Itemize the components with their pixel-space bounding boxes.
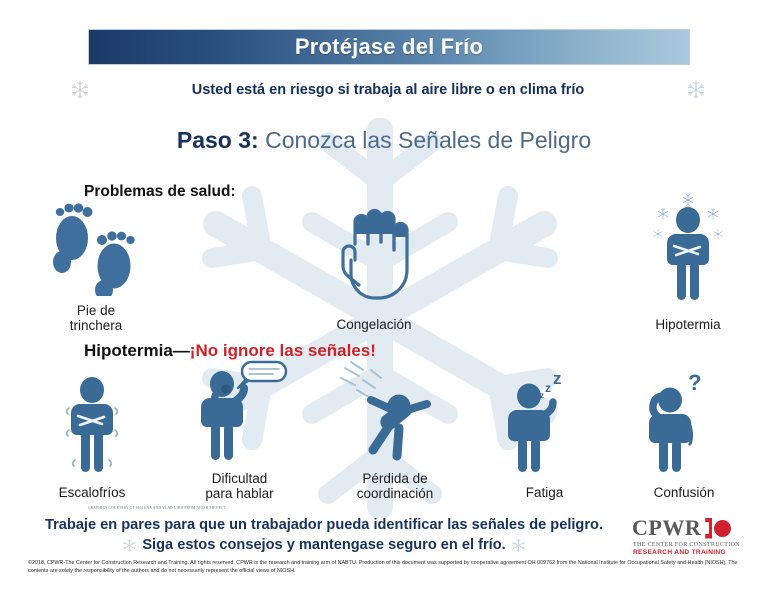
cpwr-logo: CPWR THE CENTER FOR CONSTRUCTION RESEARC… bbox=[632, 517, 760, 561]
health-problems-row: Pie de trinchera bbox=[40, 198, 740, 333]
caption-line-1: Dificultad bbox=[205, 472, 273, 486]
hypothermia-signs-row: Escalofríos bbox=[42, 366, 732, 501]
person-confused-question-icon: ? bbox=[636, 366, 732, 483]
snowflake-icon bbox=[511, 538, 526, 553]
person-sleepy-zzz-icon: z z z bbox=[497, 366, 593, 483]
step-label: Paso 3: bbox=[177, 127, 259, 153]
logo-top-row: CPWR bbox=[632, 517, 731, 539]
footer-line-2: Siga estos consejos y mantengase seguro … bbox=[142, 536, 505, 556]
snowflake-icon bbox=[686, 80, 706, 100]
sign-item-shivering: Escalofríos bbox=[42, 372, 142, 501]
logo-dot-shape bbox=[714, 520, 731, 537]
health-item-trench-foot: Pie de trinchera bbox=[40, 196, 152, 333]
footer: Trabaje en pares para que un trabajador … bbox=[0, 516, 768, 564]
logo-subtitle-1: THE CENTER FOR CONSTRUCTION bbox=[633, 542, 740, 548]
step-heading: Paso 3: Conozca las Señales de Peligro bbox=[0, 128, 768, 153]
poster-root: Protéjase del Frío Usted es bbox=[0, 0, 768, 593]
health-item-caption: Pie de trinchera bbox=[70, 304, 123, 333]
person-cold-snowflakes-icon bbox=[636, 194, 740, 315]
caption-line-1: Pérdida de bbox=[357, 472, 434, 486]
sign-item-caption: Dificultad para hablar bbox=[205, 472, 273, 501]
subtitle-row: Usted está en riesgo si trabaja al aire … bbox=[70, 76, 706, 104]
footer-line-2-row: Siga estos consejos y mantengase seguro … bbox=[18, 536, 630, 556]
hand-frostbite-icon bbox=[322, 208, 426, 315]
snowflake-icon bbox=[70, 80, 90, 100]
person-falling-icon bbox=[337, 358, 453, 469]
title-banner: Protéjase del Frío bbox=[88, 29, 690, 65]
page-title: Protéjase del Frío bbox=[295, 36, 483, 58]
caption-line-2: trinchera bbox=[70, 319, 123, 333]
health-item-caption: Hipotermia bbox=[655, 318, 720, 333]
person-speech-bubble-icon bbox=[186, 356, 294, 469]
bracket-dot-icon bbox=[705, 518, 731, 539]
sign-item-caption: Escalofríos bbox=[59, 486, 126, 501]
snowflake-icon bbox=[122, 538, 137, 553]
svg-text:z: z bbox=[553, 369, 562, 388]
caption-line-2: coordinación bbox=[357, 487, 434, 501]
svg-text:?: ? bbox=[688, 370, 701, 395]
sign-item-caption: Pérdida de coordinación bbox=[357, 472, 434, 501]
footer-line-1: Trabaje en pares para que un trabajador … bbox=[18, 516, 630, 536]
caption-line-1: Pie de bbox=[70, 304, 123, 318]
hypothermia-label-text: Hipotermia— bbox=[84, 341, 190, 360]
disclaimer-text: ©2018, CPWR-The Center for Construction … bbox=[28, 559, 744, 575]
logo-bracket-shape bbox=[705, 518, 712, 539]
footer-message: Trabaje en pares para que un trabajador … bbox=[18, 516, 630, 555]
step-text: Conozca las Señales de Peligro bbox=[259, 127, 591, 153]
logo-subtitle-2: RESEARCH AND TRAINING bbox=[633, 549, 726, 556]
caption-line-2: para hablar bbox=[205, 487, 273, 501]
sign-item-confusion: ? Confusión bbox=[636, 366, 732, 501]
sign-item-caption: Confusión bbox=[654, 486, 715, 501]
logo-wordmark: CPWR bbox=[632, 517, 701, 539]
graphics-credit: GRAPHICS COURTESY OF SHAUNA AND VLAD LIB… bbox=[88, 506, 227, 510]
sign-item-caption: Fatiga bbox=[526, 486, 564, 501]
sign-item-fatigue: z z z Fatiga bbox=[497, 366, 593, 501]
svg-text:z: z bbox=[545, 381, 551, 395]
health-item-frostbite: Congelación bbox=[322, 208, 426, 333]
subtitle-text: Usted está en riesgo si trabaja al aire … bbox=[90, 82, 686, 98]
sign-item-loss-of-coordination: Pérdida de coordinación bbox=[337, 358, 453, 501]
person-shivering-icon bbox=[42, 372, 142, 483]
footprints-icon bbox=[40, 196, 152, 301]
health-item-caption: Congelación bbox=[336, 318, 411, 333]
health-item-hypothermia: Hipotermia bbox=[636, 194, 740, 333]
sign-item-slurred-speech: Dificultad para hablar bbox=[186, 356, 294, 501]
